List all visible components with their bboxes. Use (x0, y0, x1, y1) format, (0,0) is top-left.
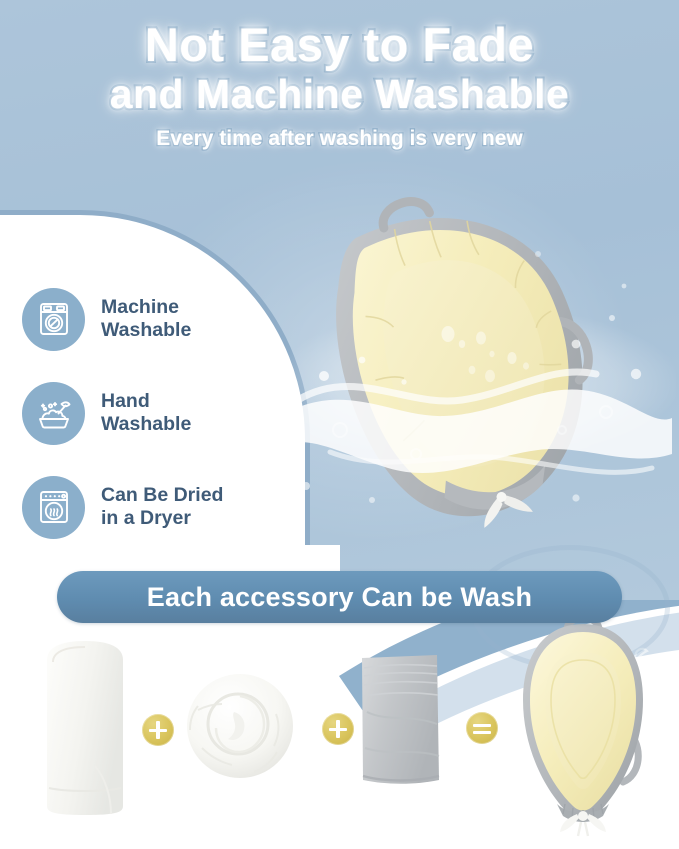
accessory-mattress-pad: white mattress pad (37, 638, 133, 823)
headline-block: Not Easy to Fade and Machine Washable Ev… (0, 20, 679, 151)
feature-label: Can Be Dried in a Dryer (101, 484, 223, 530)
feature-item-dryer-safe: Can Be Dried in a Dryer (22, 460, 272, 554)
headline-subtitle: Every time after washing is very new (0, 127, 679, 151)
feature-item-machine-washable: Machine Washable (22, 272, 272, 366)
hero-product-image (276, 168, 676, 568)
plus-icon-1 (142, 714, 174, 746)
plus-icon-2 (322, 713, 354, 745)
equals-icon (466, 712, 498, 744)
accessory-alt: white mattress pad (133, 638, 134, 639)
headline-line-2: and Machine Washable (0, 73, 679, 116)
feature-label: Machine Washable (101, 296, 191, 342)
accessory-alt: white coiled nest bumper pillow (296, 666, 297, 667)
washing-machine-icon (22, 288, 85, 351)
accessory-alt: assembled baby lounger (663, 608, 664, 609)
accessory-alt: folded grey fitted sheet (443, 652, 444, 653)
accessory-banner: Each accessory Can be Wash (57, 571, 622, 623)
feature-list: Machine Washable Hand Washable (22, 272, 272, 554)
headline-line-1: Not Easy to Fade (0, 20, 679, 70)
feature-item-hand-washable: Hand Washable (22, 366, 272, 460)
tumble-dryer-icon (22, 476, 85, 539)
feature-label: Hand Washable (101, 390, 191, 436)
infographic-page: Not Easy to Fade and Machine Washable Ev… (0, 0, 679, 849)
accessory-banner-text: Each accessory Can be Wash (147, 582, 532, 613)
accessory-grey-sheet: folded grey fitted sheet (357, 652, 443, 797)
accessory-assembled-lounger: assembled baby lounger (503, 608, 663, 843)
accessory-nest-bumper: white coiled nest bumper pillow (184, 666, 296, 787)
hand-wash-basin-icon (22, 382, 85, 445)
accessory-equation: white mattress pad (0, 600, 679, 849)
